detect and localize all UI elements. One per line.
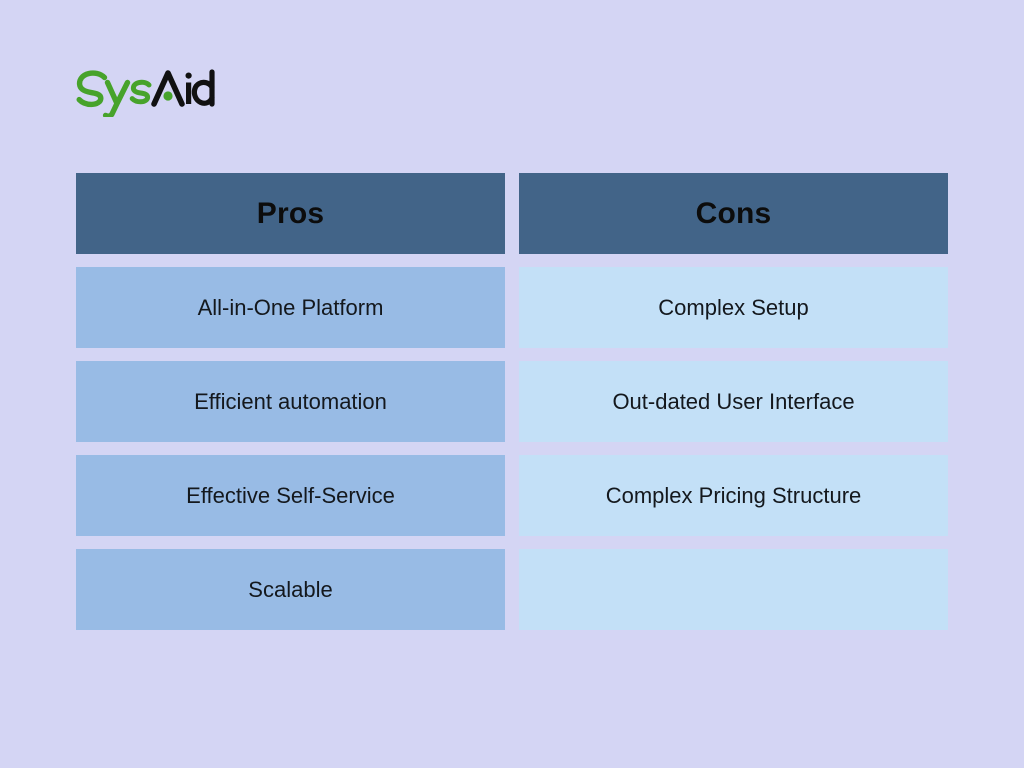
pros-column: Pros All-in-One Platform Efficient autom… — [76, 173, 505, 630]
pros-cell-3: Effective Self-Service — [76, 455, 505, 536]
pros-cell-4: Scalable — [76, 549, 505, 630]
pros-cons-table: Pros All-in-One Platform Efficient autom… — [76, 173, 948, 630]
cons-column: Cons Complex Setup Out-dated User Interf… — [519, 173, 948, 630]
pros-cell-2: Efficient automation — [76, 361, 505, 442]
cons-cell-1: Complex Setup — [519, 267, 948, 348]
sysaid-logo-icon — [76, 65, 216, 117]
cons-cell-3: Complex Pricing Structure — [519, 455, 948, 536]
sysaid-logo — [76, 62, 216, 120]
slide-canvas: Pros All-in-One Platform Efficient autom… — [0, 0, 1024, 768]
cons-cell-2: Out-dated User Interface — [519, 361, 948, 442]
pros-cell-1: All-in-One Platform — [76, 267, 505, 348]
cons-column-header: Cons — [519, 173, 948, 254]
pros-column-header: Pros — [76, 173, 505, 254]
cons-cell-4-empty — [519, 549, 948, 630]
